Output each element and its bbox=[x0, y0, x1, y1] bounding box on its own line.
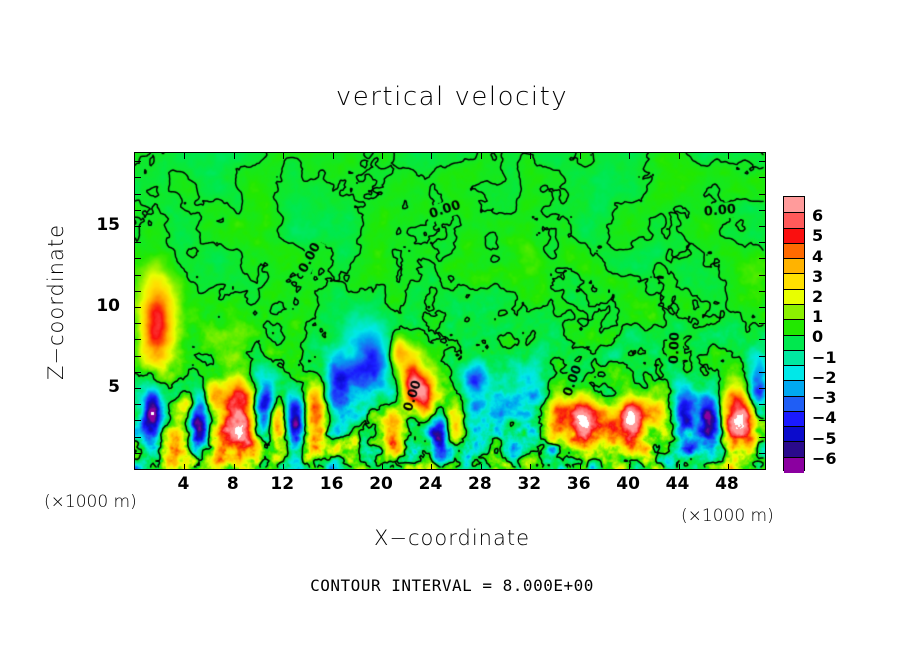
y-axis-title: Z−coordinate bbox=[44, 202, 68, 402]
y-tick-14 bbox=[135, 242, 141, 243]
colorbar-band-4 bbox=[784, 258, 804, 274]
colorbar-band-0 bbox=[784, 197, 804, 213]
y-tick-19 bbox=[135, 161, 141, 162]
y-tick-right-7 bbox=[759, 356, 765, 357]
x-tick-top-28 bbox=[481, 153, 482, 159]
y-tick-right-8 bbox=[759, 339, 765, 340]
colorbar-label-0: 0 bbox=[812, 329, 823, 345]
x-tick-32 bbox=[530, 464, 531, 470]
y-tick-right-17 bbox=[759, 194, 765, 195]
y-tick-label-15: 15 bbox=[94, 215, 120, 235]
y-tick-18 bbox=[135, 177, 141, 178]
x-axis-unit: (×1000 m) bbox=[681, 506, 774, 526]
x-tick-top-40 bbox=[629, 153, 630, 159]
y-tick-right-19 bbox=[759, 161, 765, 162]
y-tick-right-1 bbox=[759, 453, 765, 454]
colorbar-separator-10 bbox=[784, 350, 804, 351]
colorbar-separator-2 bbox=[784, 228, 804, 229]
x-tick-24 bbox=[431, 464, 432, 470]
colorbar-band-15 bbox=[784, 426, 804, 442]
y-tick-right-2 bbox=[759, 437, 765, 438]
colorbar[interactable] bbox=[783, 196, 805, 471]
y-tick-3 bbox=[135, 420, 141, 421]
x-tick-20 bbox=[382, 464, 383, 470]
colorbar-separator-16 bbox=[784, 441, 804, 442]
colorbar-label-neg3: −3 bbox=[812, 390, 837, 406]
x-tick-label-24: 24 bbox=[410, 474, 450, 494]
colorbar-separator-1 bbox=[784, 212, 804, 213]
x-tick-top-32 bbox=[530, 153, 531, 159]
x-tick-label-48: 48 bbox=[707, 474, 747, 494]
x-tick-48 bbox=[728, 464, 729, 470]
colorbar-band-13 bbox=[784, 396, 804, 412]
x-tick-label-16: 16 bbox=[312, 474, 352, 494]
x-tick-top-44 bbox=[679, 153, 680, 159]
colorbar-band-7 bbox=[784, 304, 804, 320]
contour-plot-page: vertical velocity 4812162024283236404448… bbox=[0, 0, 904, 654]
colorbar-label-5: 5 bbox=[812, 228, 823, 244]
colorbar-band-1 bbox=[784, 212, 804, 228]
y-tick-right-3 bbox=[759, 420, 765, 421]
colorbar-label-1: 1 bbox=[812, 309, 823, 325]
y-tick-label-5: 5 bbox=[94, 377, 120, 397]
colorbar-band-3 bbox=[784, 243, 804, 259]
colorbar-separator-15 bbox=[784, 426, 804, 427]
colorbar-separator-9 bbox=[784, 335, 804, 336]
x-tick-label-8: 8 bbox=[213, 474, 253, 494]
colorbar-band-6 bbox=[784, 289, 804, 305]
x-tick-top-16 bbox=[333, 153, 334, 159]
page-title: vertical velocity bbox=[0, 82, 904, 112]
y-tick-1 bbox=[135, 453, 141, 454]
y-tick-11 bbox=[135, 291, 141, 292]
colorbar-band-17 bbox=[784, 457, 804, 473]
x-tick-top-36 bbox=[580, 153, 581, 159]
colorbar-label-neg6: −6 bbox=[812, 451, 837, 467]
colorbar-label-4: 4 bbox=[812, 249, 823, 265]
colorbar-label-6: 6 bbox=[812, 208, 823, 224]
y-tick-12 bbox=[135, 275, 141, 276]
colorbar-band-2 bbox=[784, 228, 804, 244]
x-tick-label-44: 44 bbox=[658, 474, 698, 494]
colorbar-separator-11 bbox=[784, 365, 804, 366]
y-tick-right-10 bbox=[759, 307, 765, 308]
colorbar-label-neg2: −2 bbox=[812, 370, 837, 386]
y-tick-right-6 bbox=[759, 372, 765, 373]
y-tick-right-5 bbox=[759, 388, 765, 389]
colorbar-separator-17 bbox=[784, 457, 804, 458]
x-tick-12 bbox=[283, 464, 284, 470]
colorbar-label-neg5: −5 bbox=[812, 431, 837, 447]
zero-contour-overlay bbox=[135, 153, 765, 469]
colorbar-label-2: 2 bbox=[812, 289, 823, 305]
y-tick-right-16 bbox=[759, 210, 765, 211]
y-tick-right-13 bbox=[759, 258, 765, 259]
colorbar-separator-6 bbox=[784, 289, 804, 290]
y-tick-right-12 bbox=[759, 275, 765, 276]
y-tick-right-11 bbox=[759, 291, 765, 292]
colorbar-separator-4 bbox=[784, 258, 804, 259]
y-tick-8 bbox=[135, 339, 141, 340]
x-tick-top-4 bbox=[184, 153, 185, 159]
colorbar-separator-14 bbox=[784, 411, 804, 412]
colorbar-band-16 bbox=[784, 441, 804, 457]
x-tick-label-20: 20 bbox=[361, 474, 401, 494]
x-tick-top-20 bbox=[382, 153, 383, 159]
colorbar-separator-13 bbox=[784, 396, 804, 397]
x-tick-28 bbox=[481, 464, 482, 470]
colorbar-separator-5 bbox=[784, 273, 804, 274]
x-tick-label-36: 36 bbox=[559, 474, 599, 494]
x-tick-4 bbox=[184, 464, 185, 470]
colorbar-separator-3 bbox=[784, 243, 804, 244]
y-tick-4 bbox=[135, 404, 141, 405]
y-tick-16 bbox=[135, 210, 141, 211]
y-tick-right-9 bbox=[759, 323, 765, 324]
colorbar-band-12 bbox=[784, 380, 804, 396]
y-tick-10 bbox=[135, 307, 141, 308]
x-tick-40 bbox=[629, 464, 630, 470]
x-tick-top-12 bbox=[283, 153, 284, 159]
x-tick-label-40: 40 bbox=[608, 474, 648, 494]
colorbar-band-11 bbox=[784, 365, 804, 381]
colorbar-label-neg4: −4 bbox=[812, 410, 837, 426]
y-tick-13 bbox=[135, 258, 141, 259]
x-tick-label-12: 12 bbox=[262, 474, 302, 494]
y-tick-7 bbox=[135, 356, 141, 357]
colorbar-band-9 bbox=[784, 335, 804, 351]
x-tick-16 bbox=[333, 464, 334, 470]
y-tick-15 bbox=[135, 226, 141, 227]
colorbar-band-14 bbox=[784, 411, 804, 427]
plot-area bbox=[134, 152, 766, 470]
x-tick-8 bbox=[234, 464, 235, 470]
y-tick-right-4 bbox=[759, 404, 765, 405]
x-tick-36 bbox=[580, 464, 581, 470]
x-tick-label-4: 4 bbox=[163, 474, 203, 494]
y-axis-unit: (×1000 m) bbox=[44, 492, 137, 512]
y-tick-2 bbox=[135, 437, 141, 438]
y-tick-right-15 bbox=[759, 226, 765, 227]
y-tick-label-10: 10 bbox=[94, 296, 120, 316]
colorbar-separator-8 bbox=[784, 319, 804, 320]
colorbar-band-10 bbox=[784, 350, 804, 366]
y-tick-6 bbox=[135, 372, 141, 373]
colorbar-label-neg1: −1 bbox=[812, 350, 837, 366]
x-tick-label-32: 32 bbox=[509, 474, 549, 494]
x-tick-44 bbox=[679, 464, 680, 470]
y-tick-right-14 bbox=[759, 242, 765, 243]
y-tick-17 bbox=[135, 194, 141, 195]
x-tick-top-8 bbox=[234, 153, 235, 159]
y-tick-9 bbox=[135, 323, 141, 324]
contour-interval-caption: CONTOUR INTERVAL = 8.000E+00 bbox=[0, 576, 904, 595]
colorbar-separator-12 bbox=[784, 380, 804, 381]
colorbar-separator-7 bbox=[784, 304, 804, 305]
x-tick-top-48 bbox=[728, 153, 729, 159]
x-tick-label-28: 28 bbox=[460, 474, 500, 494]
colorbar-band-8 bbox=[784, 319, 804, 335]
x-axis-title: X−coordinate bbox=[0, 526, 904, 550]
y-tick-5 bbox=[135, 388, 141, 389]
colorbar-label-3: 3 bbox=[812, 269, 823, 285]
x-tick-top-24 bbox=[431, 153, 432, 159]
y-tick-right-18 bbox=[759, 177, 765, 178]
colorbar-band-5 bbox=[784, 273, 804, 289]
